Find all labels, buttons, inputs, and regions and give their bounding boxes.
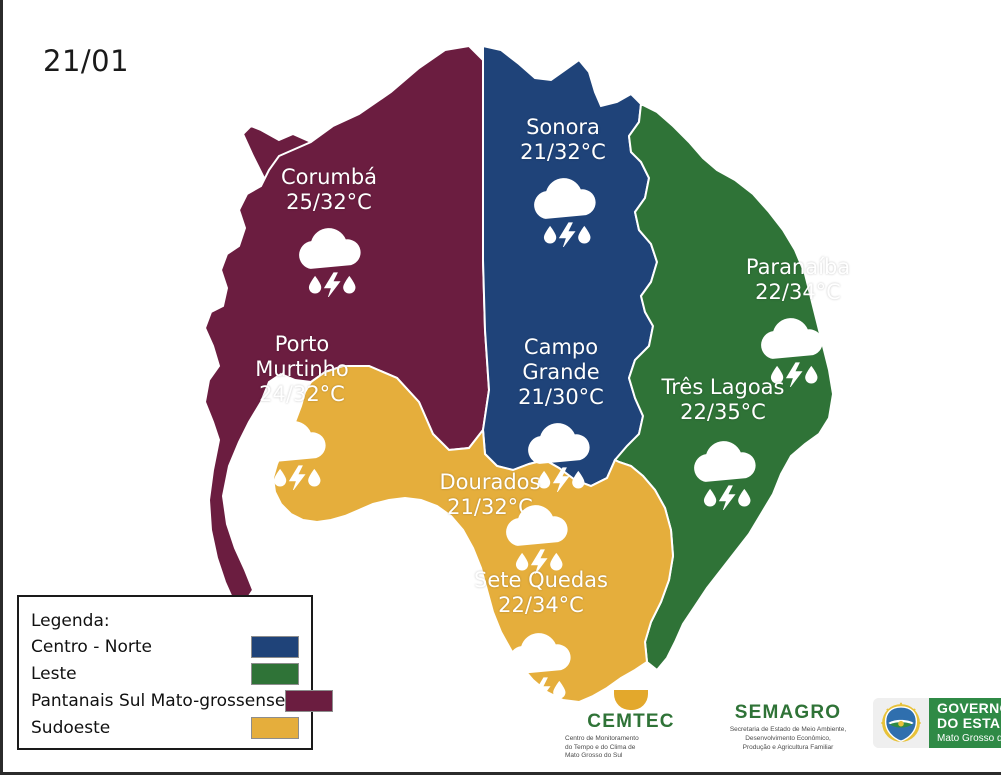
legend-item-pantanais[interactable]: Pantanais Sul Mato-grossense: [31, 687, 299, 714]
legend-label: Pantanais Sul Mato-grossense: [31, 691, 285, 711]
region-centro-norte[interactable]: [483, 46, 657, 486]
legend-swatch-sudoeste: [251, 717, 299, 739]
cemtec-name: CEMTEC: [561, 711, 701, 733]
footer-logos: CEMTEC Centro de Monitoramento do Tempo …: [543, 690, 993, 762]
legend-label: Centro - Norte: [31, 637, 152, 657]
gov-line1: GOVERNO: [937, 701, 1001, 716]
cemtec-logo: CEMTEC Centro de Monitoramento do Tempo …: [561, 690, 701, 761]
gov-line3: Mato Grosso do Sul: [937, 733, 1001, 746]
gov-line2: DO ESTADO: [937, 716, 1001, 731]
government-text: GOVERNO DO ESTADO Mato Grosso do Sul: [929, 698, 1001, 748]
legend-label: Leste: [31, 664, 77, 684]
legend-item-leste[interactable]: Leste: [31, 660, 299, 687]
legend-swatch-centro-norte: [251, 636, 299, 658]
legend-item-centro-norte[interactable]: Centro - Norte: [31, 633, 299, 660]
legend-swatch-leste: [251, 663, 299, 685]
semagro-logo: SEMAGRO Secretaria de Estado de Meio Amb…: [713, 702, 863, 752]
semagro-subtitle: Secretaria de Estado de Meio Ambiente, D…: [713, 726, 863, 752]
date-label: 21/01: [43, 44, 129, 78]
weather-map-page: 21/01 Corumbá 25/32°C: [0, 0, 1001, 775]
legend-item-sudoeste[interactable]: Sudoeste: [31, 714, 299, 741]
cemtec-arc-icon: [614, 690, 648, 710]
state-crest-icon: [873, 698, 929, 748]
legend-box: Legenda: Centro - Norte Leste Pantanais …: [17, 595, 313, 750]
cemtec-subtitle: Centro de Monitoramento do Tempo e do Cl…: [561, 735, 701, 761]
government-logo: GOVERNO DO ESTADO Mato Grosso do Sul: [873, 698, 1001, 748]
legend-label: Sudoeste: [31, 718, 110, 738]
legend-title: Legenda:: [31, 611, 299, 631]
legend-swatch-pantanais: [285, 690, 333, 712]
semagro-name: SEMAGRO: [713, 702, 863, 724]
